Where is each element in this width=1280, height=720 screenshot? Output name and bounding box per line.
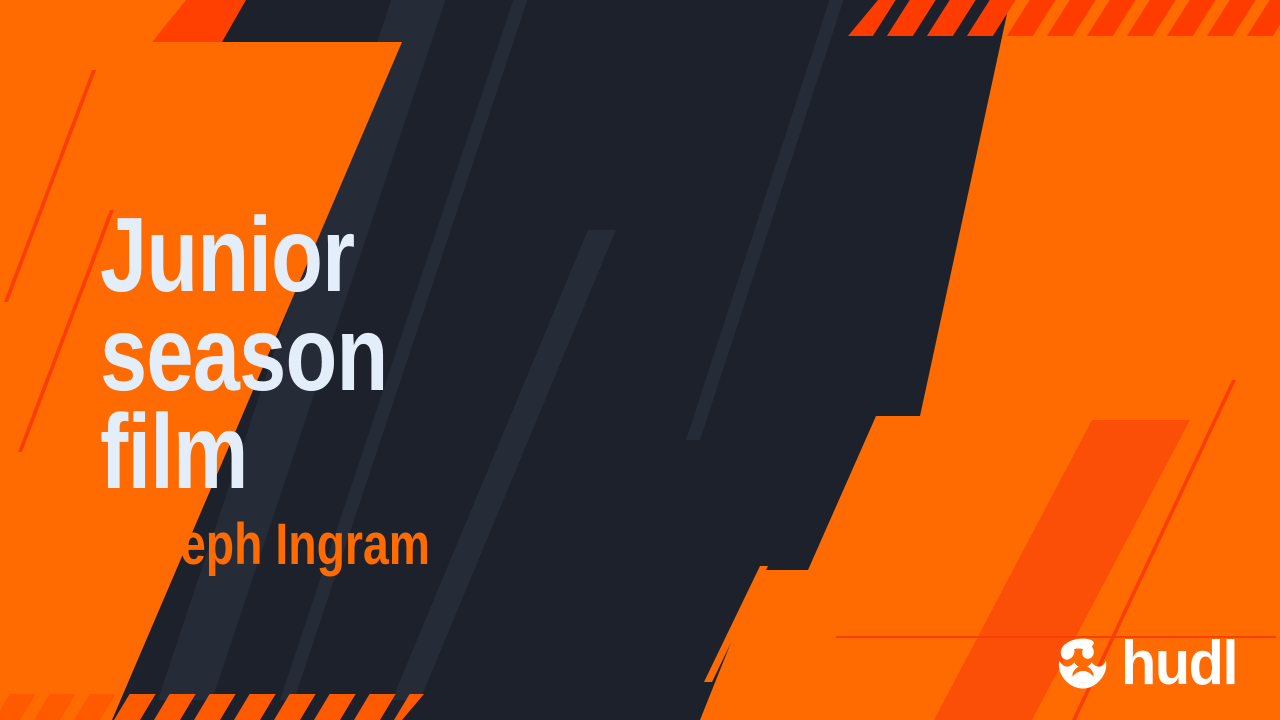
hudl-logo: hudl xyxy=(1055,636,1246,692)
page-title: Junior season film xyxy=(100,206,660,502)
subtitle-athlete-name: Joseph Ingram xyxy=(100,502,660,574)
hudl-shield-icon xyxy=(1055,636,1111,692)
title-card-slide: Junior season film Joseph Ingram hudl xyxy=(0,0,1280,720)
red-hairline-top-left xyxy=(4,70,96,302)
orange-sliver xyxy=(704,566,768,682)
title-text-block: Junior season film Joseph Ingram xyxy=(100,206,800,574)
hazard-stripe-group xyxy=(0,680,444,720)
deep-orange-slice xyxy=(152,0,246,42)
hazard-stripe-group xyxy=(838,0,1280,50)
orange-wedge-shape xyxy=(0,0,246,42)
hudl-wordmark: hudl xyxy=(1121,640,1237,688)
